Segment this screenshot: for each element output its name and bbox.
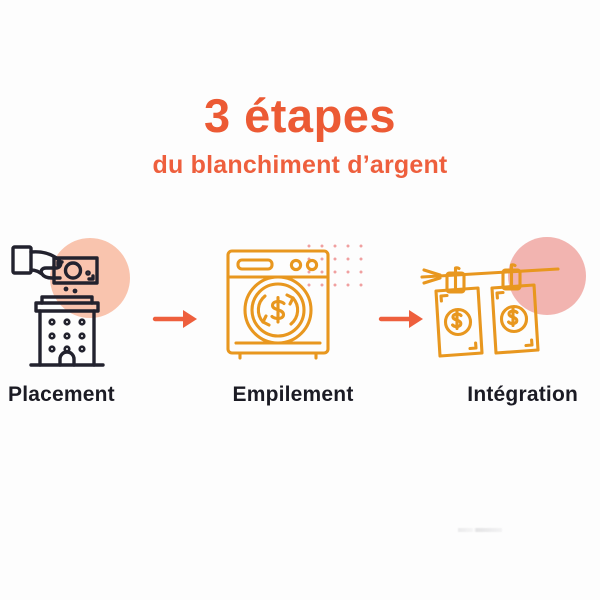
title-block: 3 étapes du blanchiment d’argent (0, 92, 600, 178)
arrow-right-icon-2 (378, 305, 426, 333)
step-empilement-label: Empilement (198, 383, 388, 407)
step-integration-label: Intégration (400, 383, 590, 407)
page-title: 3 étapes (0, 92, 600, 139)
steps-row: Placement (0, 225, 600, 425)
banknotes-drying-on-clothesline-icon (400, 225, 590, 375)
washing-machine-laundering-money-icon (198, 225, 388, 375)
step-integration-art (400, 225, 590, 375)
hand-giving-cash-to-bank-icon (2, 225, 192, 375)
step-placement-label: Placement (2, 383, 192, 407)
faint-watermark-smudge (458, 528, 502, 532)
step-empilement-art (198, 225, 388, 375)
arrow-right-icon-1 (152, 305, 200, 333)
step-integration: Intégration (400, 225, 590, 425)
infographic-canvas: 3 étapes du blanchiment d’argent (0, 0, 600, 600)
step-empilement: Empilement (198, 225, 388, 425)
step-placement-art (2, 225, 192, 375)
page-subtitle: du blanchiment d’argent (0, 153, 600, 178)
